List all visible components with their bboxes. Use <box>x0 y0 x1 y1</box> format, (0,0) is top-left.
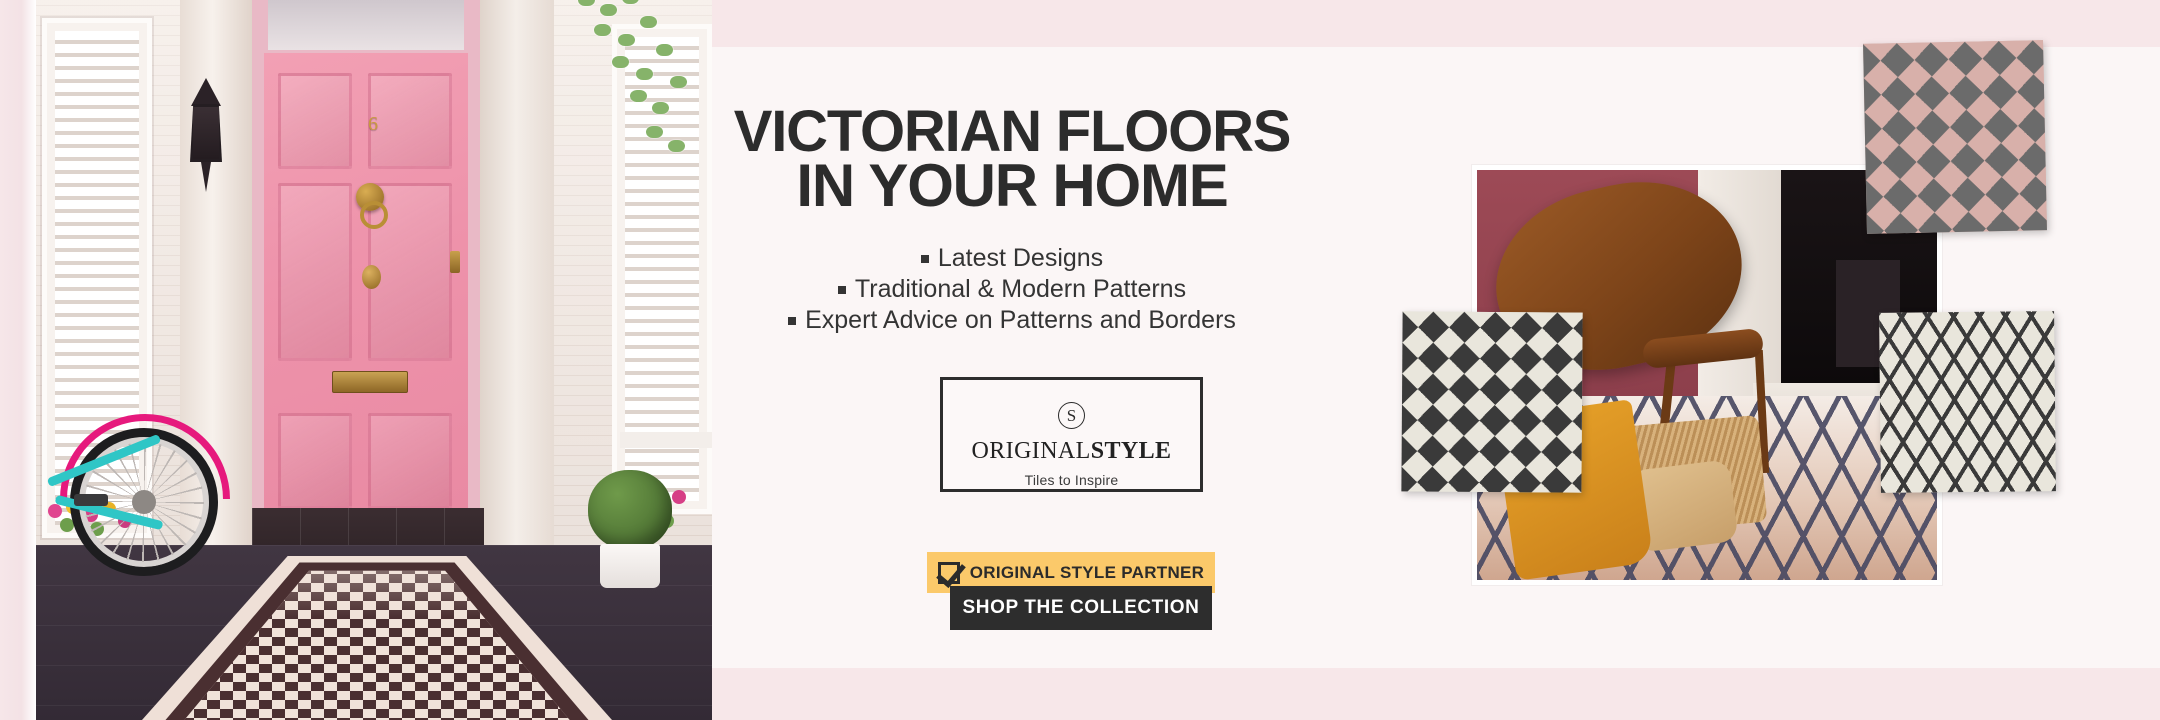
logo-wordmark: ORIGINALSTYLE <box>943 438 1200 465</box>
circled-s-logo-icon: S <box>1058 402 1085 429</box>
feature-list: Latest Designs Traditional & Modern Patt… <box>712 243 1312 336</box>
fanlight-window <box>268 0 464 50</box>
topiary-plant <box>584 470 676 588</box>
door-lock <box>450 251 460 273</box>
pink-front-door: 6 <box>264 53 468 509</box>
list-item-label: Traditional & Modern Patterns <box>855 275 1186 303</box>
right-door-column <box>478 0 554 545</box>
list-item-label: Expert Advice on Patterns and Borders <box>805 306 1236 334</box>
window-ledge <box>620 432 712 448</box>
page-title: VICTORIAN FLOORS IN YOUR HOME <box>712 105 1312 214</box>
original-style-logo: S ORIGINALSTYLE Tiles to Inspire <box>940 377 1203 492</box>
logo-word-bold: STYLE <box>1091 438 1172 464</box>
bullet-square-icon <box>788 317 796 325</box>
hanging-ivy <box>560 0 710 170</box>
list-item: Expert Advice on Patterns and Borders <box>712 305 1312 336</box>
imagery-zone <box>1440 0 2160 720</box>
house-number: 6 <box>368 113 378 136</box>
letterbox <box>332 371 408 393</box>
bullet-square-icon <box>838 286 846 294</box>
text-column: VICTORIAN FLOORS IN YOUR HOME Latest Des… <box>712 47 1312 668</box>
logo-tagline: Tiles to Inspire <box>943 472 1200 488</box>
tile-swatch-diamond-pink-grey <box>1863 40 2047 234</box>
door-panel <box>278 413 352 509</box>
headline-line-1: VICTORIAN FLOORS <box>712 105 1312 158</box>
partner-badge-label: ORIGINAL STYLE PARTNER <box>970 563 1205 583</box>
list-item-label: Latest Designs <box>938 244 1103 272</box>
bicycle <box>44 398 234 588</box>
front-door-photo: 6 <box>0 0 712 720</box>
headline-line-2: IN YOUR HOME <box>712 158 1312 213</box>
tile-swatch-chevron-black-cream <box>1879 311 2056 493</box>
checkbox-checked-icon <box>938 562 960 584</box>
door-panel <box>368 413 452 509</box>
door-knob <box>362 265 381 289</box>
door-panel <box>278 183 352 361</box>
wall-lantern-icon <box>188 78 224 196</box>
list-item: Traditional & Modern Patterns <box>712 274 1312 305</box>
bullet-square-icon <box>921 255 929 263</box>
logo-word-regular: ORIGINAL <box>972 438 1091 464</box>
promotional-banner: 6 <box>0 0 2160 720</box>
door-panel <box>368 73 452 169</box>
list-item: Latest Designs <box>712 243 1312 274</box>
lion-door-knocker-icon <box>356 183 384 211</box>
photo-left-edge <box>0 0 36 720</box>
tile-swatch-diamond-black-cream <box>1401 311 1582 492</box>
shop-the-collection-button[interactable]: SHOP THE COLLECTION <box>950 586 1212 630</box>
door-panel <box>278 73 352 169</box>
